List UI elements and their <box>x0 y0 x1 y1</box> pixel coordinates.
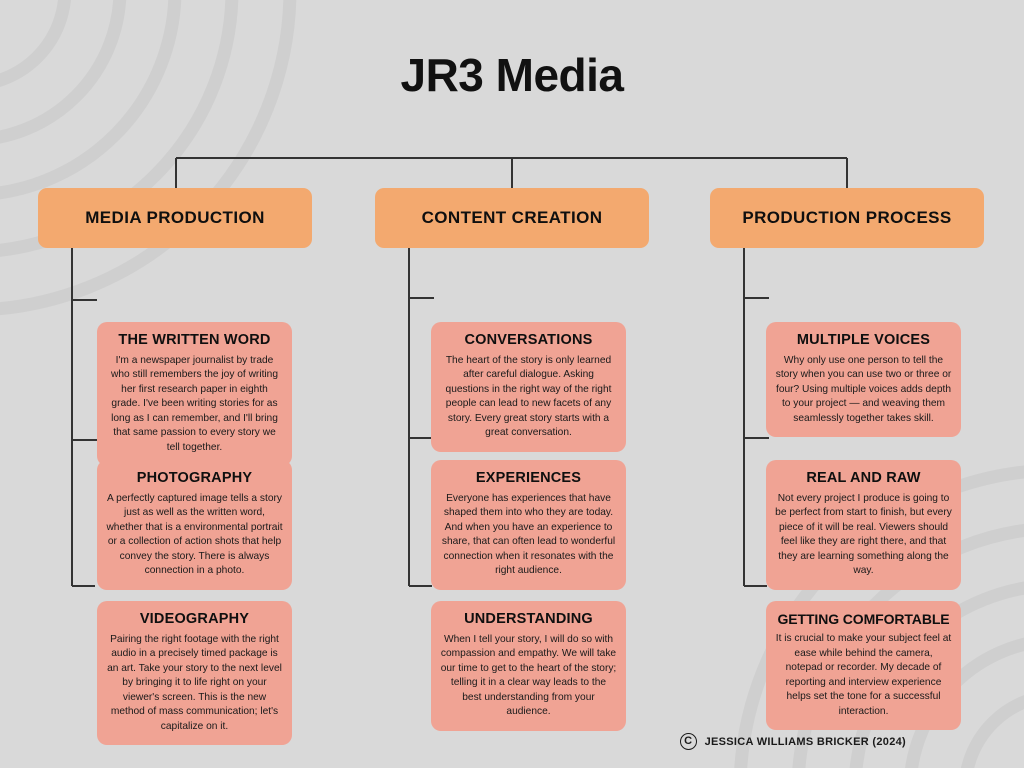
copyright-icon: C <box>680 733 697 750</box>
chart-columns: MEDIA PRODUCTION THE WRITTEN WORD I'm a … <box>0 188 1024 688</box>
card-title: VIDEOGRAPHY <box>106 611 283 628</box>
page-title: JR3 Media <box>0 48 1024 102</box>
card-conversations[interactable]: CONVERSATIONS The heart of the story is … <box>431 322 626 452</box>
card-title: THE WRITTEN WORD <box>106 332 283 349</box>
branch-column-content-creation: CONTENT CREATION CONVERSATIONS The heart… <box>375 188 649 258</box>
card-title: MULTIPLE VOICES <box>775 332 952 349</box>
card-photography[interactable]: PHOTOGRAPHY A perfectly captured image t… <box>97 460 292 590</box>
branch-header-media-production[interactable]: MEDIA PRODUCTION <box>38 188 312 248</box>
card-body: Pairing the right footage with the right… <box>106 633 283 734</box>
card-title: EXPERIENCES <box>440 470 617 487</box>
branch-column-media-production: MEDIA PRODUCTION THE WRITTEN WORD I'm a … <box>38 188 312 258</box>
card-title: UNDERSTANDING <box>440 611 617 628</box>
card-title: PHOTOGRAPHY <box>106 470 283 487</box>
card-the-written-word[interactable]: THE WRITTEN WORD I'm a newspaper journal… <box>97 322 292 466</box>
card-real-and-raw[interactable]: REAL AND RAW Not every project I produce… <box>766 460 961 590</box>
card-title: REAL AND RAW <box>775 470 952 487</box>
card-body: Everyone has experiences that have shape… <box>440 492 617 579</box>
card-getting-comfortable[interactable]: GETTING COMFORTABLE It is crucial to mak… <box>766 601 961 730</box>
card-body: The heart of the story is only learned a… <box>440 354 617 441</box>
card-multiple-voices[interactable]: MULTIPLE VOICES Why only use one person … <box>766 322 961 437</box>
card-title: GETTING COMFORTABLE <box>775 611 952 627</box>
footer-credit: C JESSICA WILLIAMS BRICKER (2024) <box>680 733 906 750</box>
card-understanding[interactable]: UNDERSTANDING When I tell your story, I … <box>431 601 626 731</box>
card-experiences[interactable]: EXPERIENCES Everyone has experiences tha… <box>431 460 626 590</box>
card-body: When I tell your story, I will do so wit… <box>440 633 617 720</box>
footer-credit-text: JESSICA WILLIAMS BRICKER (2024) <box>705 736 906 748</box>
card-body: I'm a newspaper journalist by trade who … <box>106 354 283 455</box>
card-body: It is crucial to make your subject feel … <box>775 632 952 719</box>
card-body: A perfectly captured image tells a story… <box>106 492 283 579</box>
card-body: Why only use one person to tell the stor… <box>775 354 952 426</box>
branch-header-production-process[interactable]: PRODUCTION PROCESS <box>710 188 984 248</box>
branch-header-content-creation[interactable]: CONTENT CREATION <box>375 188 649 248</box>
card-videography[interactable]: VIDEOGRAPHY Pairing the right footage wi… <box>97 601 292 745</box>
card-body: Not every project I produce is going to … <box>775 492 952 579</box>
card-title: CONVERSATIONS <box>440 332 617 349</box>
branch-column-production-process: PRODUCTION PROCESS MULTIPLE VOICES Why o… <box>710 188 984 258</box>
